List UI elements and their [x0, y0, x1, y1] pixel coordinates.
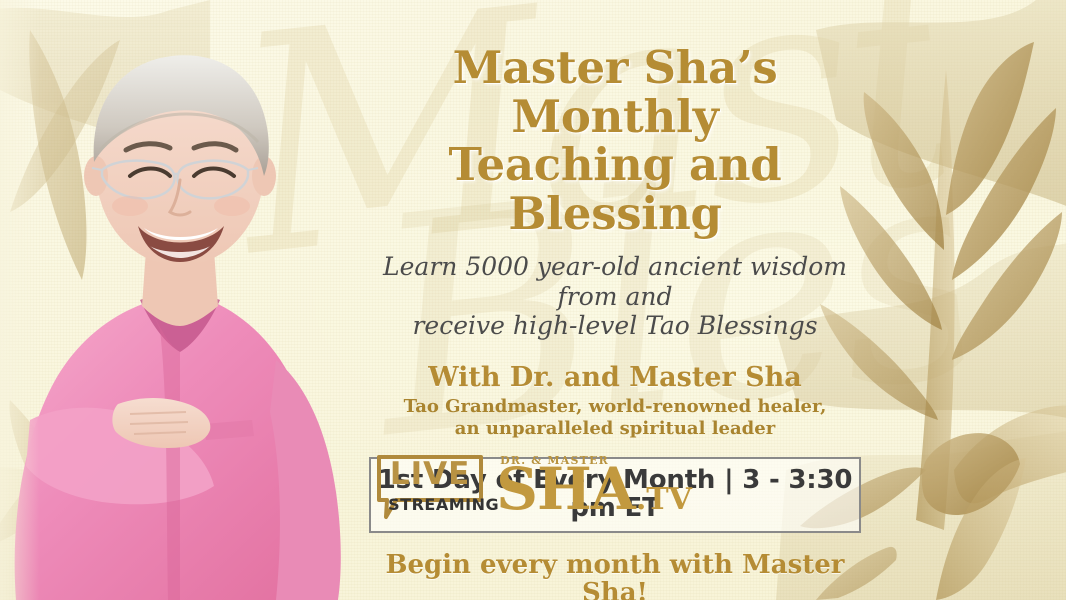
presenter-credentials: Tao Grandmaster, world-renowned healer, … [355, 396, 875, 441]
brand-logo: LIVE STREAMING DR. & MASTER SHA .TV [0, 452, 1066, 522]
live-label: LIVE [374, 459, 486, 490]
streaming-label: STREAMING [388, 497, 490, 513]
poster-canvas: Master Blessing [0, 0, 1066, 600]
tv-label: .TV [636, 485, 692, 515]
subtitle-line-2: receive high-level Tao Blessings [412, 311, 817, 340]
credentials-line-1: Tao Grandmaster, world-renowned healer, [404, 396, 827, 417]
cta-heading: Begin every month with Master Sha! [355, 551, 875, 600]
subtitle-line-1: Learn 5000 year-old ancient wisdom from … [383, 252, 847, 311]
title-line-1: Master Sha’s Monthly [453, 41, 778, 143]
title-line-2: Teaching and Blessing [449, 138, 782, 240]
credentials-line-2: an unparalleled spiritual leader [455, 418, 775, 439]
subtitle: Learn 5000 year-old ancient wisdom from … [355, 252, 875, 341]
presenter-name: With Dr. and Master Sha [355, 363, 875, 393]
sha-tv-wordmark: DR. & MASTER SHA .TV [496, 452, 692, 516]
page-title: Master Sha’s Monthly Teaching and Blessi… [355, 0, 875, 238]
live-streaming-badge: LIVE STREAMING [374, 452, 486, 522]
sha-label: SHA [496, 463, 635, 516]
sha-tv-row: SHA .TV [496, 463, 692, 516]
